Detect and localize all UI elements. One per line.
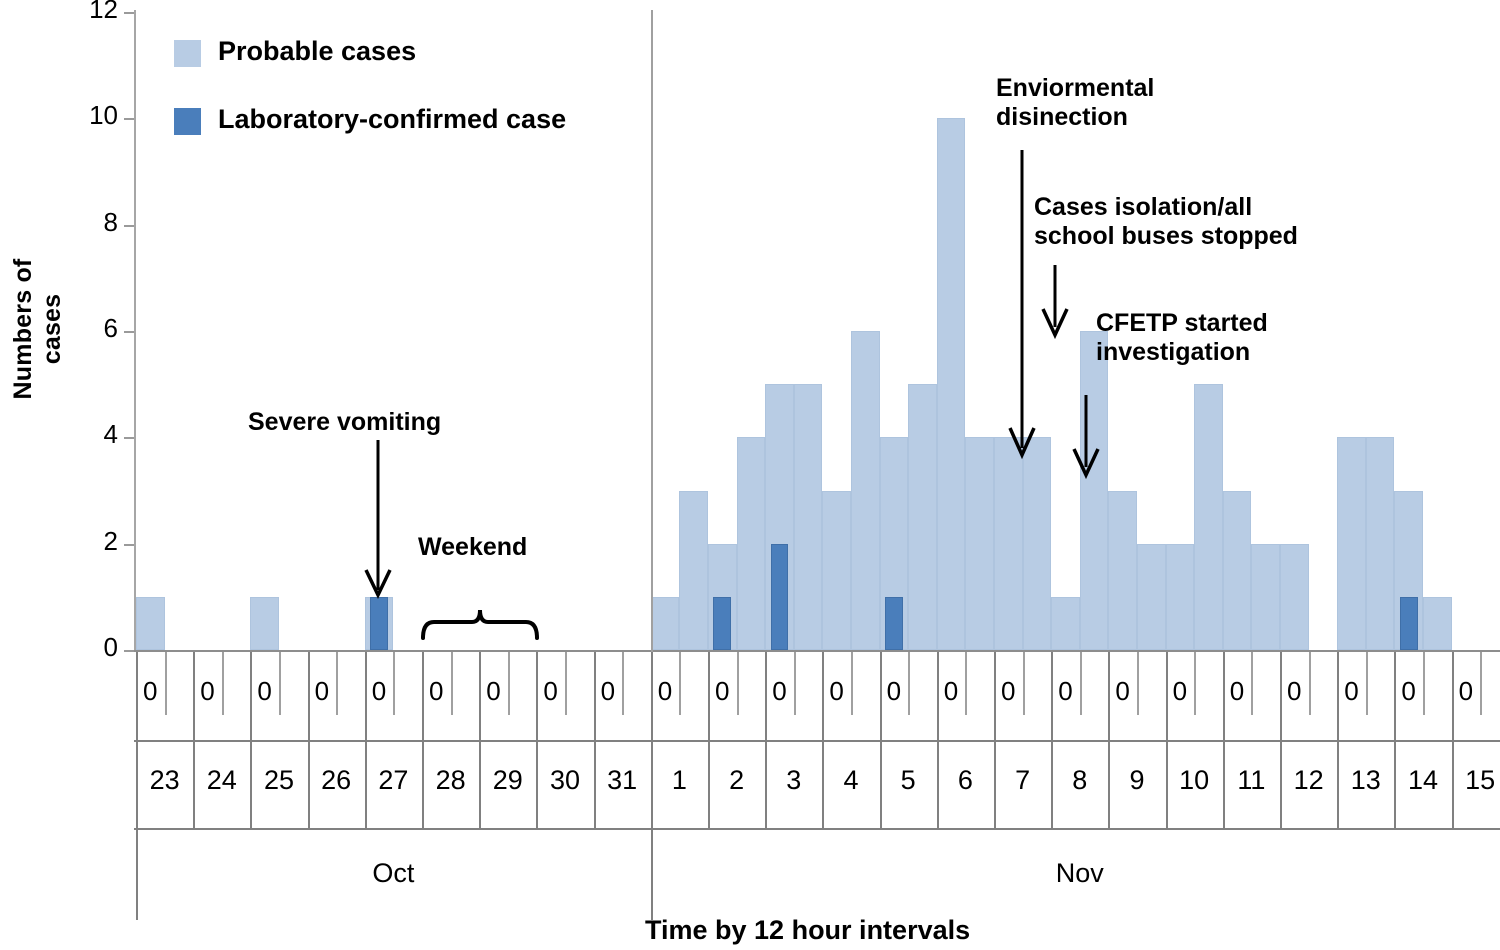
half-day-separator-oct-31 bbox=[622, 652, 624, 715]
bar-probable-nov-10a bbox=[1166, 544, 1195, 650]
bar-probable-nov-8b bbox=[1080, 331, 1109, 650]
annotation-cfetp: CFETP started investigation bbox=[1096, 309, 1268, 367]
bar-probable-nov-4b bbox=[851, 331, 880, 650]
day-separator-nov-12 bbox=[1280, 652, 1282, 740]
month-separator-oct bbox=[136, 828, 138, 920]
hour-tick-label: 0 bbox=[1459, 676, 1473, 707]
x-day-label-oct-26: 26 bbox=[308, 765, 365, 796]
day-separator-nov-6 bbox=[937, 652, 939, 740]
half-day-separator-nov-10 bbox=[1194, 652, 1196, 715]
hour-tick-label: 0 bbox=[543, 676, 557, 707]
x-day-label-nov-7: 7 bbox=[994, 765, 1051, 796]
x-day-label-nov-10: 10 bbox=[1166, 765, 1223, 796]
hour-tick-label: 0 bbox=[1058, 676, 1072, 707]
hour-tick-label: 0 bbox=[143, 676, 157, 707]
bar-probable-nov-5b bbox=[908, 384, 937, 650]
bar-probable-nov-9a bbox=[1108, 491, 1137, 651]
annotation-cfetp-line1: CFETP started bbox=[1096, 309, 1268, 338]
x-axis-baseline bbox=[134, 650, 1500, 652]
bar-probable-nov-3b bbox=[794, 384, 823, 650]
bar-probable-nov-14b bbox=[1423, 597, 1452, 650]
x-month-label-nov: Nov bbox=[651, 858, 1500, 889]
hour-tick-label: 0 bbox=[1230, 676, 1244, 707]
x-day-label-nov-6: 6 bbox=[937, 765, 994, 796]
y-tick-label-12: 12 bbox=[58, 0, 118, 25]
x-day-label-oct-28: 28 bbox=[422, 765, 479, 796]
bar-probable-nov-2b bbox=[737, 437, 766, 650]
hour-tick-label: 0 bbox=[1173, 676, 1187, 707]
half-day-separator-nov-5 bbox=[908, 652, 910, 715]
day-separator-oct-29 bbox=[479, 652, 481, 740]
legend-label-lab-confirmed: Laboratory-confirmed case bbox=[218, 104, 566, 135]
day-separator-oct-24 bbox=[193, 652, 195, 740]
bar-probable-nov-1a bbox=[651, 597, 680, 650]
bar-probable-nov-8a bbox=[1051, 597, 1080, 650]
hour-tick-label: 0 bbox=[1287, 676, 1301, 707]
annotation-iso-line2: school buses stopped bbox=[1034, 222, 1298, 251]
hour-tick-label: 0 bbox=[372, 676, 386, 707]
month-separator-nov bbox=[651, 828, 653, 920]
hour-tick-label: 0 bbox=[1115, 676, 1129, 707]
day-separator-oct-30 bbox=[536, 652, 538, 740]
x-day-label-nov-1: 1 bbox=[651, 765, 708, 796]
half-day-separator-nov-14 bbox=[1423, 652, 1425, 715]
bar-probable-nov-13a bbox=[1337, 437, 1366, 650]
bar-lab-confirmed-nov-3a bbox=[771, 544, 789, 650]
bar-probable-nov-12a bbox=[1280, 544, 1309, 650]
hour-tick-label: 0 bbox=[829, 676, 843, 707]
legend-swatch-lab-confirmed bbox=[174, 108, 201, 135]
hour-tick-label: 0 bbox=[429, 676, 443, 707]
day-separator-oct-31 bbox=[594, 652, 596, 740]
half-day-separator-oct-25 bbox=[279, 652, 281, 715]
bar-probable-nov-11b bbox=[1251, 544, 1280, 650]
half-day-separator-oct-23 bbox=[165, 652, 167, 715]
x-day-label-nov-4: 4 bbox=[822, 765, 879, 796]
day-separator-nov-11 bbox=[1223, 652, 1225, 740]
x-day-label-nov-9: 9 bbox=[1108, 765, 1165, 796]
hour-tick-label: 0 bbox=[658, 676, 672, 707]
y-tick-label-2: 2 bbox=[58, 526, 118, 557]
hour-tick-label: 0 bbox=[486, 676, 500, 707]
bar-lab-confirmed-nov-2a bbox=[713, 597, 731, 650]
half-day-separator-nov-11 bbox=[1251, 652, 1253, 715]
bar-probable-oct-25a bbox=[250, 597, 279, 650]
y-tick-label-6: 6 bbox=[58, 313, 118, 344]
bar-probable-nov-7b bbox=[1023, 437, 1052, 650]
hour-tick-label: 0 bbox=[601, 676, 615, 707]
annotation-severe-vomiting: Severe vomiting bbox=[248, 408, 441, 437]
half-day-separator-nov-8 bbox=[1080, 652, 1082, 715]
half-day-separator-oct-26 bbox=[336, 652, 338, 715]
y-tick-label-10: 10 bbox=[58, 100, 118, 131]
legend-label-probable: Probable cases bbox=[218, 36, 416, 67]
half-day-separator-nov-12 bbox=[1309, 652, 1311, 715]
day-separator-oct-23 bbox=[136, 652, 138, 740]
half-day-separator-oct-28 bbox=[451, 652, 453, 715]
half-day-separator-nov-15 bbox=[1480, 652, 1482, 715]
day-separator-nov-9 bbox=[1108, 652, 1110, 740]
arrow-cases-isolation bbox=[1038, 265, 1074, 347]
day-separator-nov-13 bbox=[1337, 652, 1339, 740]
half-day-separator-nov-13 bbox=[1366, 652, 1368, 715]
day-separator-nov-14 bbox=[1394, 652, 1396, 740]
day-separator-oct-26 bbox=[308, 652, 310, 740]
annotation-cfetp-line2: investigation bbox=[1096, 338, 1268, 367]
half-day-separator-oct-24 bbox=[222, 652, 224, 715]
chart-root: Numbers of cases 024681012 0000000000000… bbox=[0, 0, 1500, 950]
half-day-separator-nov-7 bbox=[1023, 652, 1025, 715]
x-day-label-nov-8: 8 bbox=[1051, 765, 1108, 796]
annotation-cases-isolation: Cases isolation/all school buses stopped bbox=[1034, 193, 1298, 251]
arrow-severe-vomiting bbox=[360, 440, 400, 605]
y-tick-label-4: 4 bbox=[58, 419, 118, 450]
bar-probable-nov-6b bbox=[965, 437, 994, 650]
half-day-separator-nov-6 bbox=[965, 652, 967, 715]
half-day-separator-nov-1 bbox=[679, 652, 681, 715]
month-boundary-plot-nov bbox=[651, 10, 653, 652]
day-separator-oct-28 bbox=[422, 652, 424, 740]
x-day-label-oct-29: 29 bbox=[479, 765, 536, 796]
hour-tick-label: 0 bbox=[772, 676, 786, 707]
x-day-label-nov-12: 12 bbox=[1280, 765, 1337, 796]
x-day-label-oct-24: 24 bbox=[193, 765, 250, 796]
hour-tick-label: 0 bbox=[1001, 676, 1015, 707]
hour-tick-label: 0 bbox=[944, 676, 958, 707]
hour-tick-label: 0 bbox=[257, 676, 271, 707]
x-day-label-oct-30: 30 bbox=[536, 765, 593, 796]
annotation-env-line1: Enviormental bbox=[996, 74, 1154, 103]
x-day-label-nov-2: 2 bbox=[708, 765, 765, 796]
legend-swatch-probable bbox=[174, 40, 201, 67]
bar-probable-nov-10b bbox=[1194, 384, 1223, 650]
day-separator-nov-4 bbox=[822, 652, 824, 740]
half-day-separator-nov-9 bbox=[1137, 652, 1139, 715]
bar-lab-confirmed-nov-5a bbox=[885, 597, 903, 650]
annotation-env-line2: disinection bbox=[996, 103, 1154, 132]
day-separator-nov-15 bbox=[1452, 652, 1454, 740]
annotation-weekend: Weekend bbox=[418, 533, 527, 562]
day-separator-nov-5 bbox=[880, 652, 882, 740]
hour-tick-label: 0 bbox=[315, 676, 329, 707]
hour-tick-label: 0 bbox=[200, 676, 214, 707]
day-separator-oct-25 bbox=[250, 652, 252, 740]
half-day-separator-nov-3 bbox=[794, 652, 796, 715]
x-day-label-oct-27: 27 bbox=[365, 765, 422, 796]
x-day-label-nov-15: 15 bbox=[1452, 765, 1500, 796]
day-separator-nov-2 bbox=[708, 652, 710, 740]
half-day-separator-oct-27 bbox=[393, 652, 395, 715]
day-separator-oct-27 bbox=[365, 652, 367, 740]
half-day-separator-oct-29 bbox=[508, 652, 510, 715]
day-separator-nov-8 bbox=[1051, 652, 1053, 740]
x-day-label-nov-5: 5 bbox=[880, 765, 937, 796]
bar-probable-nov-11a bbox=[1223, 491, 1252, 651]
x-day-label-nov-13: 13 bbox=[1337, 765, 1394, 796]
half-day-separator-nov-4 bbox=[851, 652, 853, 715]
annotation-iso-line1: Cases isolation/all bbox=[1034, 193, 1298, 222]
bar-probable-nov-6a bbox=[937, 118, 966, 650]
hour-tick-label: 0 bbox=[715, 676, 729, 707]
x-axis-title: Time by 12 hour intervals bbox=[645, 915, 970, 946]
y-tick-label-8: 8 bbox=[58, 207, 118, 238]
day-row-bottom-rule bbox=[134, 828, 1500, 830]
x-day-label-nov-3: 3 bbox=[765, 765, 822, 796]
x-month-label-oct: Oct bbox=[136, 858, 651, 889]
x-day-label-nov-14: 14 bbox=[1394, 765, 1451, 796]
hour-row-bottom-rule bbox=[134, 740, 1500, 742]
bar-probable-oct-23a bbox=[136, 597, 165, 650]
x-day-label-nov-11: 11 bbox=[1223, 765, 1280, 796]
arrow-cfetp bbox=[1069, 395, 1105, 487]
bar-probable-nov-1b bbox=[679, 491, 708, 651]
bar-probable-nov-4a bbox=[822, 491, 851, 651]
hour-tick-label: 0 bbox=[887, 676, 901, 707]
bar-probable-nov-13b bbox=[1366, 437, 1395, 650]
bar-probable-nov-7a bbox=[994, 437, 1023, 650]
weekend-brace bbox=[420, 590, 542, 640]
day-separator-nov-3 bbox=[765, 652, 767, 740]
x-day-label-oct-23: 23 bbox=[136, 765, 193, 796]
annotation-environmental-disinfection: Enviormental disinection bbox=[996, 74, 1154, 132]
hour-tick-label: 0 bbox=[1344, 676, 1358, 707]
x-day-label-oct-25: 25 bbox=[250, 765, 307, 796]
bar-probable-nov-9b bbox=[1137, 544, 1166, 650]
bar-lab-confirmed-nov-14a bbox=[1400, 597, 1418, 650]
hour-tick-label: 0 bbox=[1401, 676, 1415, 707]
y-tick-label-0: 0 bbox=[58, 632, 118, 663]
x-day-label-oct-31: 31 bbox=[594, 765, 651, 796]
half-day-separator-oct-30 bbox=[565, 652, 567, 715]
half-day-separator-nov-2 bbox=[737, 652, 739, 715]
day-separator-nov-1 bbox=[651, 652, 653, 740]
day-separator-nov-10 bbox=[1166, 652, 1168, 740]
day-separator-nov-7 bbox=[994, 652, 996, 740]
